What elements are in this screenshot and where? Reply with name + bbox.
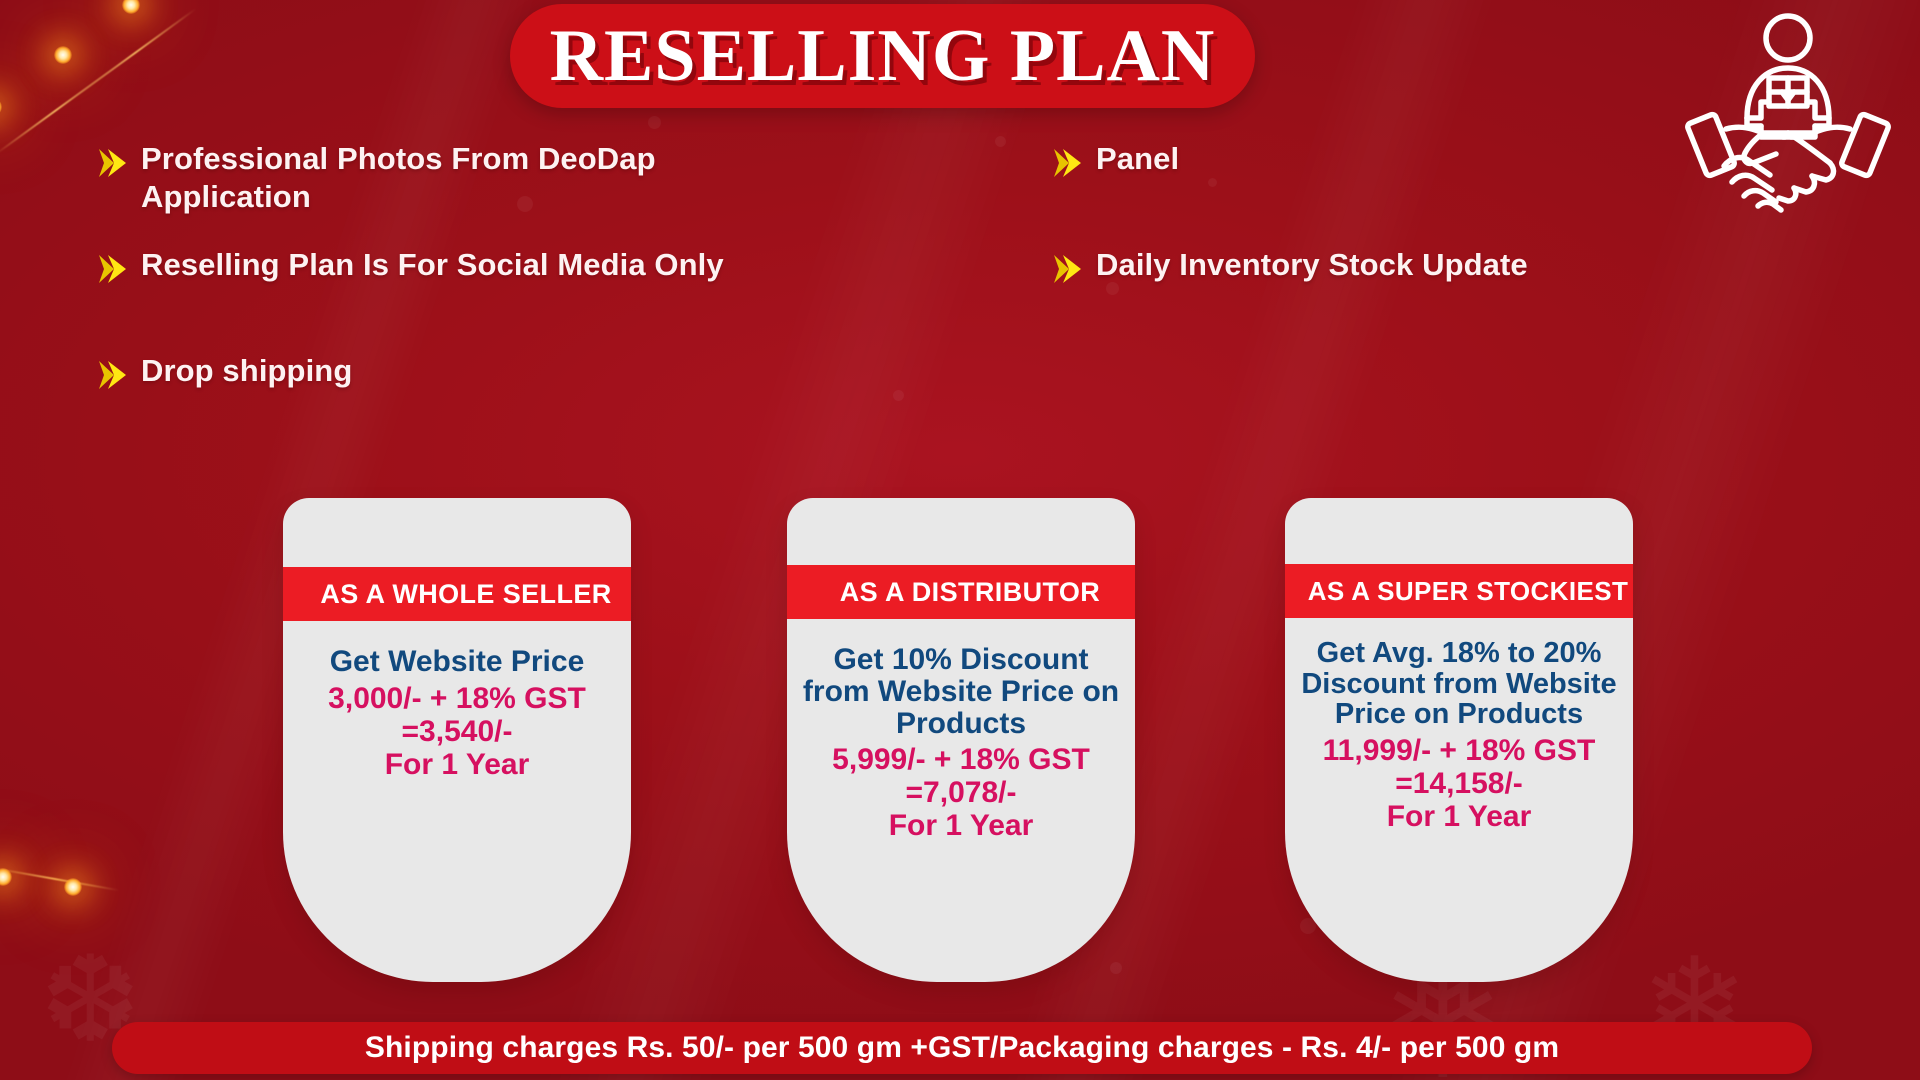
bg-bokeh	[995, 136, 1006, 147]
double-chevron-right-icon	[95, 252, 129, 291]
plan-price-line: 11,999/- + 18% GST	[1295, 734, 1623, 767]
feature-label: Reselling Plan Is For Social Media Only	[141, 246, 724, 284]
plan-title: AS A WHOLE SELLER	[320, 579, 611, 610]
bg-bokeh	[893, 390, 904, 401]
feature-label: Daily Inventory Stock Update	[1096, 246, 1528, 284]
page-title: RESELLING PLAN	[550, 14, 1216, 99]
plan-price-line: 5,999/- + 18% GST	[797, 743, 1125, 776]
ribbon-band: AS A DISTRIBUTOR	[787, 565, 1135, 619]
plan-body: Get Website Price 3,000/- + 18% GST =3,5…	[283, 646, 631, 781]
double-chevron-right-icon	[95, 146, 129, 185]
plan-card-super-stockiest[interactable]: AS A SUPER STOCKIEST Get Avg. 18% to 20%…	[1285, 498, 1633, 982]
plan-headline: Get Website Price	[293, 646, 621, 678]
plan-card-distributor[interactable]: AS A DISTRIBUTOR Get 10% Discount from W…	[787, 498, 1135, 982]
plan-price-line: For 1 Year	[1295, 800, 1623, 833]
ribbon-band: AS A SUPER STOCKIEST	[1285, 564, 1633, 618]
plan-price-line: =7,078/-	[797, 776, 1125, 809]
feature-label: Professional Photos From DeoDap Applicat…	[141, 140, 815, 216]
plan-ribbon: AS A DISTRIBUTOR	[787, 565, 1135, 619]
plan-price-line: For 1 Year	[293, 748, 621, 781]
pricing-plans: AS A WHOLE SELLER Get Website Price 3,00…	[0, 498, 1920, 1008]
plan-body: Get 10% Discount from Website Price on P…	[787, 644, 1135, 842]
title-banner: RESELLING PLAN	[510, 4, 1255, 108]
feature-item: Daily Inventory Stock Update	[1050, 246, 1710, 291]
plan-body: Get Avg. 18% to 20% Discount from Websit…	[1285, 638, 1633, 833]
double-chevron-right-icon	[1050, 146, 1084, 185]
plan-price-line: =14,158/-	[1295, 767, 1623, 800]
handshake-deal-icon	[1684, 6, 1892, 218]
plan-price-line: =3,540/-	[293, 715, 621, 748]
plan-ribbon: AS A WHOLE SELLER	[283, 567, 631, 621]
feature-label: Drop shipping	[141, 352, 352, 390]
bg-bokeh	[648, 116, 661, 129]
feature-item: Panel	[1050, 140, 1350, 185]
plan-ribbon: AS A SUPER STOCKIEST	[1285, 564, 1633, 618]
plan-title: AS A DISTRIBUTOR	[840, 577, 1100, 608]
ribbon-band: AS A WHOLE SELLER	[283, 567, 631, 621]
feature-item: Drop shipping	[95, 352, 595, 397]
plan-price-line: 3,000/- + 18% GST	[293, 682, 621, 715]
feature-item: Professional Photos From DeoDap Applicat…	[95, 140, 815, 216]
plan-card-whole-seller[interactable]: AS A WHOLE SELLER Get Website Price 3,00…	[283, 498, 631, 982]
plan-headline: Get Avg. 18% to 20% Discount from Websit…	[1295, 638, 1623, 730]
shipping-note-banner: Shipping charges Rs. 50/- per 500 gm +GS…	[112, 1022, 1812, 1074]
shipping-note-text: Shipping charges Rs. 50/- per 500 gm +GS…	[365, 1031, 1559, 1065]
feature-label: Panel	[1096, 140, 1179, 178]
plan-headline: Get 10% Discount from Website Price on P…	[797, 644, 1125, 739]
plan-price-line: For 1 Year	[797, 809, 1125, 842]
feature-item: Reselling Plan Is For Social Media Only	[95, 246, 855, 291]
plan-title: AS A SUPER STOCKIEST	[1308, 576, 1629, 607]
double-chevron-right-icon	[1050, 252, 1084, 291]
double-chevron-right-icon	[95, 358, 129, 397]
